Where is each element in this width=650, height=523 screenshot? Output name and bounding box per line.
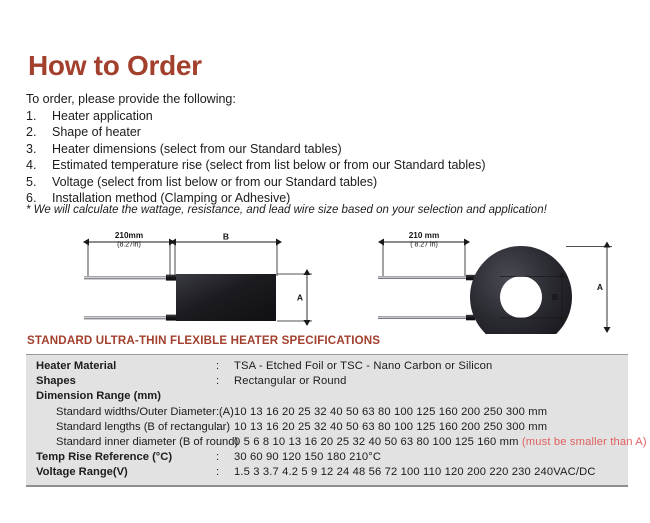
list-item-number: 5. — [26, 174, 52, 190]
footnote-text: * We will calculate the wattage, resista… — [26, 204, 547, 216]
list-item-label: Shape of heater — [52, 124, 626, 140]
spec-colon: : — [216, 359, 234, 374]
spec-label: Standard widths/Outer Diameter (A) — [26, 405, 216, 420]
list-item-label: Heater dimensions (select from our Stand… — [52, 141, 626, 157]
spec-value: 1.5 3 3.7 4.2 5 9 12 24 48 56 72 100 110… — [234, 465, 628, 480]
list-item-number: 3. — [26, 141, 52, 157]
spec-value: 10 13 16 20 25 32 40 50 63 80 100 125 16… — [234, 420, 628, 435]
spec-colon: : — [216, 420, 234, 435]
spec-colon: : — [216, 465, 234, 480]
table-row: Temp Rise Reference (°C) : 30 60 90 120 … — [26, 450, 628, 465]
round-heater-diagram: 210 mm ( 8.27 in) B A — [378, 231, 612, 334]
rect-height-label: A — [297, 293, 303, 303]
list-item-number: 1. — [26, 108, 52, 124]
round-inner-label: B — [552, 292, 558, 302]
list-item: 4. Estimated temperature rise (select fr… — [26, 157, 626, 173]
table-row: Standard widths/Outer Diameter (A) : 10 … — [26, 405, 628, 420]
spec-colon: : — [216, 405, 234, 420]
list-item-label: Voltage (select from list below or from … — [52, 174, 626, 190]
table-row: Shapes : Rectangular or Round — [26, 374, 628, 389]
page-title: How to Order — [28, 52, 202, 80]
list-item: 5. Voltage (select from list below or fr… — [26, 174, 626, 190]
order-requirements-list: 1. Heater application 2. Shape of heater… — [26, 108, 626, 206]
spec-label: Standard lengths (B of rectangular) — [26, 420, 216, 435]
spec-label: Standard inner diameter (B of round) — [26, 435, 216, 450]
spec-colon: : — [216, 450, 234, 465]
round-outer-label: A — [597, 282, 603, 292]
list-item-number: 2. — [26, 124, 52, 140]
round-lead-length-mm: 210 mm — [409, 231, 440, 240]
list-item: 2. Shape of heater — [26, 124, 626, 140]
spec-value: 10 13 16 20 25 32 40 50 63 80 100 125 16… — [234, 405, 628, 420]
spec-value: TSA - Etched Foil or TSC - Nano Carbon o… — [234, 359, 628, 374]
list-item: 1. Heater application — [26, 108, 626, 124]
spec-colon: : — [216, 435, 234, 450]
rectangular-heater-diagram: 210mm (8.27in) B A — [84, 231, 312, 321]
intro-text: To order, please provide the following: — [26, 92, 236, 106]
spec-value-text: 0 5 6 8 10 13 16 20 25 32 40 50 63 80 10… — [234, 436, 522, 448]
table-row: Dimension Range (mm) — [26, 389, 628, 404]
list-item-number: 4. — [26, 157, 52, 173]
spec-label: Heater Material — [26, 359, 216, 374]
spec-label: Voltage Range(V) — [26, 465, 216, 480]
table-row: Standard inner diameter (B of round) : 0… — [26, 435, 628, 450]
spec-label: Dimension Range (mm) — [26, 389, 216, 404]
spec-value: 30 60 90 120 150 180 210°C — [234, 450, 628, 465]
round-heater-body — [470, 246, 572, 334]
spec-label: Shapes — [26, 374, 216, 389]
spec-value: Rectangular or Round — [234, 374, 628, 389]
rect-lead-length-mm: 210mm — [115, 231, 143, 240]
product-diagrams: 210mm (8.27in) B A 210 — [0, 228, 650, 334]
spec-table: Heater Material : TSA - Etched Foil or T… — [26, 354, 628, 487]
spec-label: Temp Rise Reference (°C) — [26, 450, 216, 465]
list-item-label: Estimated temperature rise (select from … — [52, 157, 626, 173]
diagram-svg: 210mm (8.27in) B A 210 — [0, 228, 650, 334]
spec-value: 0 5 6 8 10 13 16 20 25 32 40 50 63 80 10… — [234, 435, 647, 450]
table-row: Voltage Range(V) : 1.5 3 3.7 4.2 5 9 12 … — [26, 465, 628, 480]
rect-lead-length-in: (8.27in) — [117, 242, 141, 249]
table-row: Standard lengths (B of rectangular) : 10… — [26, 420, 628, 435]
rect-width-label: B — [223, 232, 229, 242]
table-row: Heater Material : TSA - Etched Foil or T… — [26, 359, 628, 374]
spec-section-heading: STANDARD ULTRA-THIN FLEXIBLE HEATER SPEC… — [27, 334, 380, 347]
list-item: 3. Heater dimensions (select from our St… — [26, 141, 626, 157]
round-lead-length-in: ( 8.27 in) — [410, 242, 438, 249]
spec-colon: : — [216, 374, 234, 389]
list-item-label: Heater application — [52, 108, 626, 124]
spec-value-note: (must be smaller than A) — [522, 436, 647, 448]
